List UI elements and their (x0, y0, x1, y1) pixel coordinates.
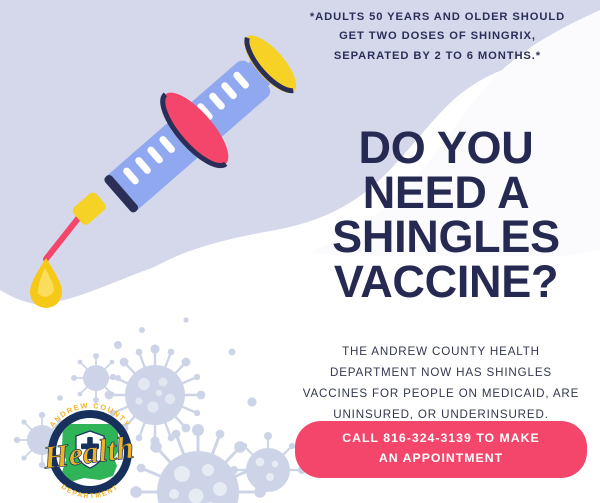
health-department-logo: ANDREW COUNTY DEPARTMENT Health (0, 0, 600, 503)
poster-canvas: *ADULTS 50 YEARS AND OLDER SHOULD GET TW… (0, 0, 600, 503)
